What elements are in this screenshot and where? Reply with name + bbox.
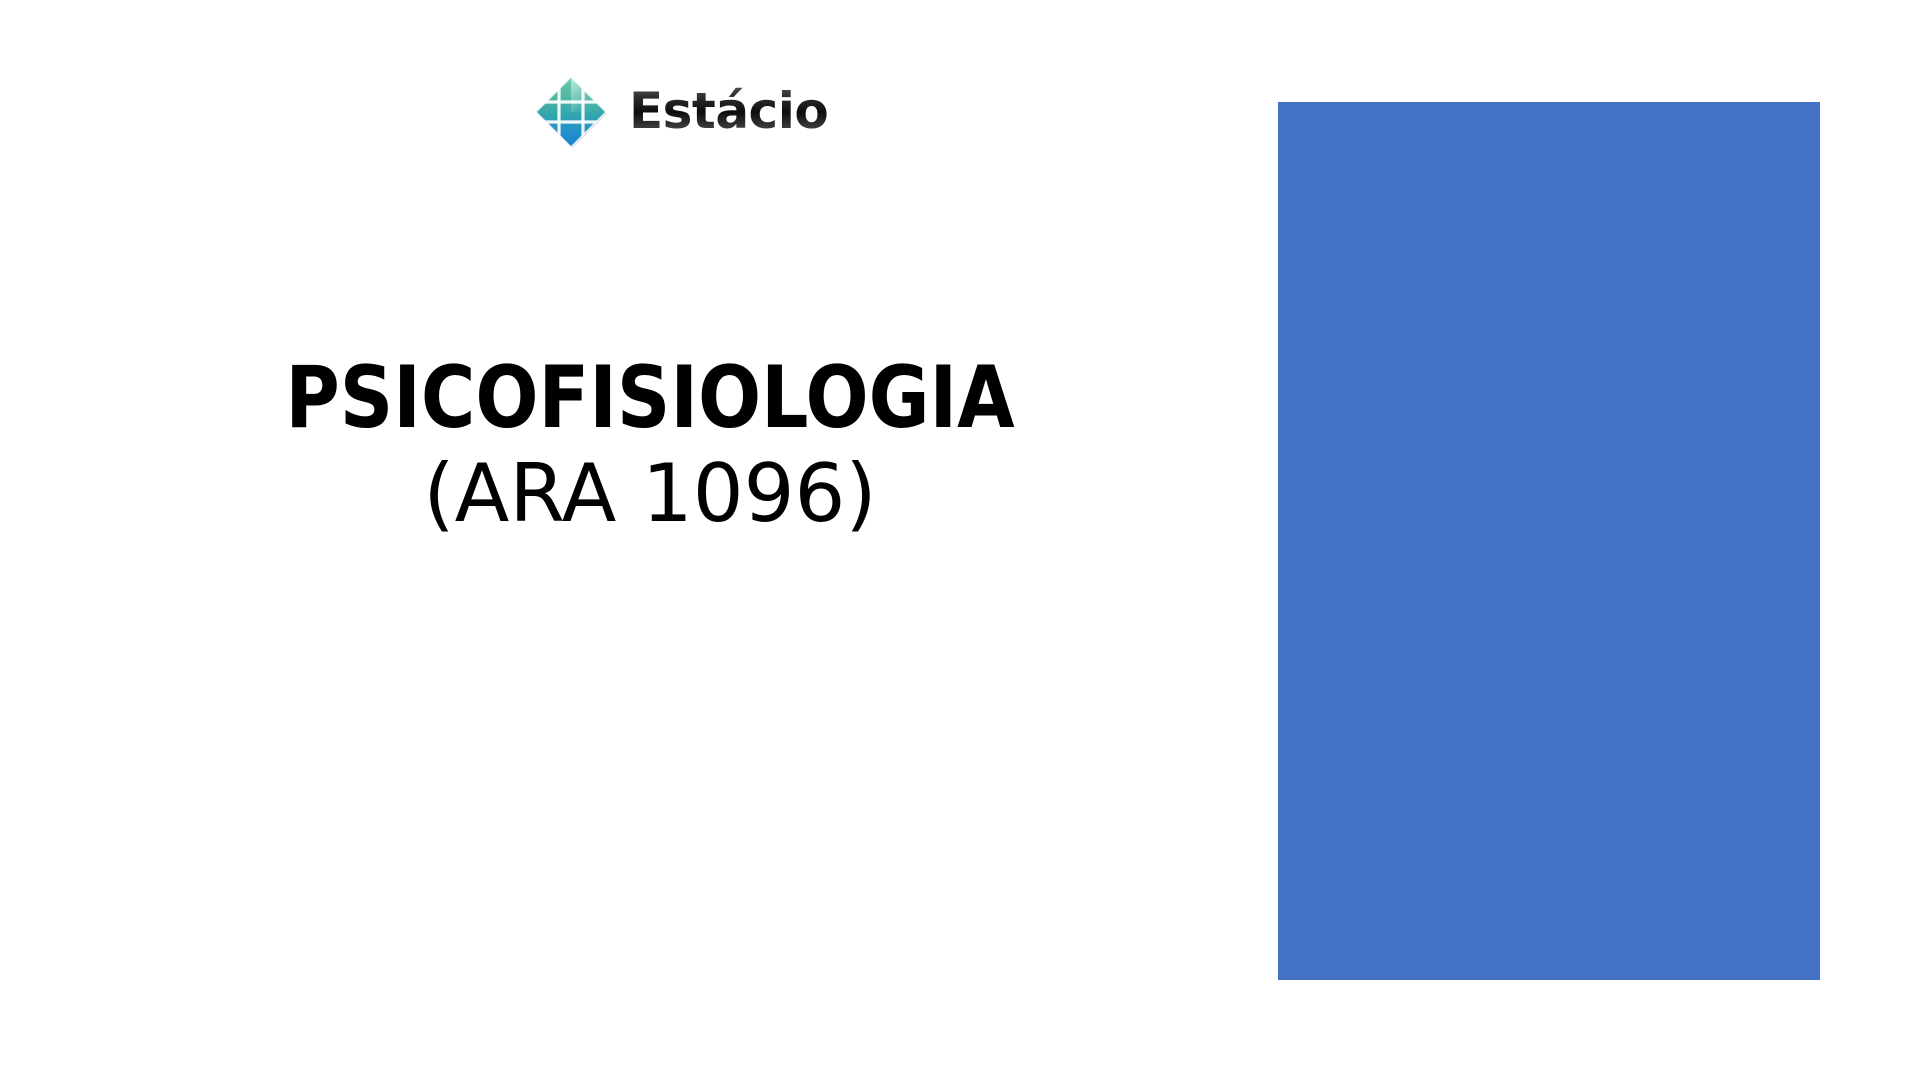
page-subtitle: (ARA 1096)	[150, 446, 1150, 542]
title-block: PSICOFISIOLOGIA (ARA 1096)	[150, 350, 1150, 542]
diamond-grid-icon	[533, 74, 609, 150]
slide-canvas: Estácio PSICOFISIOLOGIA (ARA 1096)	[0, 0, 1920, 1080]
estacio-logo: Estácio	[533, 74, 873, 150]
page-title: PSICOFISIOLOGIA	[170, 350, 1130, 446]
estacio-wordmark: Estácio	[629, 82, 828, 140]
accent-rectangle	[1278, 102, 1820, 980]
